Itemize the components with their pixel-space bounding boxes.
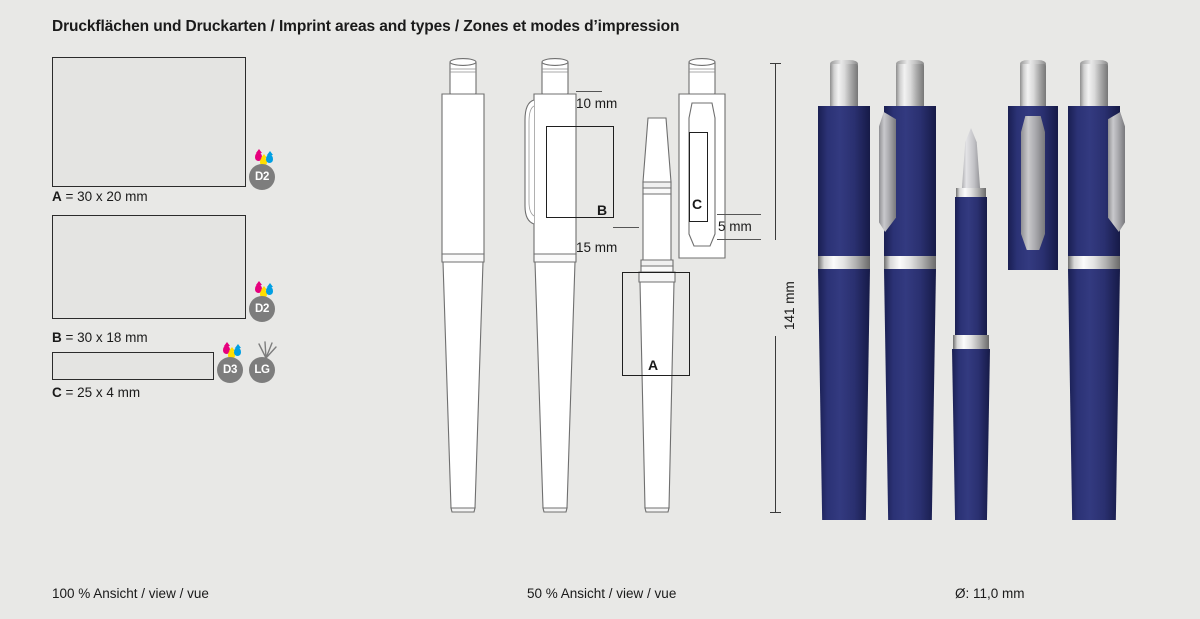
print-method-icon-lg-c[interactable]: LG [249, 343, 279, 383]
leader-line-5mm-bottom [717, 239, 761, 240]
dimension-10mm: 10 mm [576, 96, 617, 111]
imprint-area-label-b: B = 30 x 18 mm [52, 330, 148, 345]
pen-render-cone [948, 128, 1002, 520]
print-method-code-d2-b: D2 [249, 296, 275, 322]
caption-left: 100 % Ansicht / view / vue [52, 586, 209, 601]
dimension-cap-bottom [770, 512, 781, 513]
imprint-area-size-c: = 25 x 4 mm [62, 385, 140, 400]
cone-barrel [955, 197, 987, 335]
imprint-area-size-a: = 30 x 20 mm [62, 189, 148, 204]
imprint-area-box-c [52, 352, 214, 380]
print-method-code-d3-c: D3 [217, 357, 243, 383]
spec-sheet: Druckflächen und Druckarten / Imprint ar… [0, 0, 1200, 619]
cone-ring-upper [956, 188, 986, 197]
imprint-area-size-b: = 30 x 18 mm [62, 330, 148, 345]
leader-line-10mm [576, 91, 602, 92]
center-ring [884, 256, 936, 269]
page-title: Druckflächen und Druckarten / Imprint ar… [52, 18, 679, 36]
imprint-area-letter-b: B [52, 330, 62, 345]
print-method-icon-d2-a[interactable]: D2 [249, 150, 279, 190]
cone-lower-barrel [952, 349, 990, 520]
dimension-15mm: 15 mm [576, 240, 617, 255]
push-button [830, 64, 858, 106]
pen-lower-barrel [1068, 269, 1120, 520]
print-method-code-lg-c: LG [249, 357, 275, 383]
imprint-rect-letter-a: A [648, 357, 658, 373]
droplet-cyan-icon [266, 286, 273, 295]
pen-upper-barrel [818, 106, 870, 256]
dimension-5mm: 5 mm [718, 219, 752, 234]
print-method-icon-d3-c[interactable]: D3 [217, 343, 247, 383]
push-button [1020, 64, 1046, 106]
center-ring [1068, 256, 1120, 269]
print-method-icon-d2-b[interactable]: D2 [249, 282, 279, 322]
pen-clip-front [1021, 116, 1045, 250]
pen-lower-barrel [818, 269, 870, 520]
dimension-141mm: 141 mm [782, 281, 797, 330]
pen-tip-cone [958, 128, 984, 192]
pen-render-clip-right [1068, 60, 1138, 520]
pen-outline-clip-view [512, 56, 622, 516]
imprint-area-label-a: A = 30 x 20 mm [52, 189, 148, 204]
cone-ring-lower [953, 335, 989, 349]
imprint-area-box-b [52, 215, 246, 319]
pen-lower-barrel [884, 269, 936, 520]
imprint-area-letter-a: A [52, 189, 62, 204]
print-method-code-d2-a: D2 [249, 164, 275, 190]
imprint-area-letter-c: C [52, 385, 62, 400]
imprint-rect-letter-c: C [692, 196, 702, 212]
leader-line-15mm [613, 227, 639, 228]
center-ring [818, 256, 870, 269]
caption-right: Ø: 11,0 mm [955, 586, 1025, 601]
push-button [1080, 64, 1108, 106]
imprint-area-label-c: C = 25 x 4 mm [52, 385, 140, 400]
pen-render-plain [818, 60, 880, 520]
imprint-area-box-a [52, 57, 246, 187]
droplet-cyan-icon [266, 154, 273, 163]
caption-middle: 50 % Ansicht / view / vue [527, 586, 676, 601]
push-button [896, 64, 924, 106]
pen-render-with-clip [884, 60, 946, 520]
pen-render-clip-front [1008, 60, 1060, 275]
pen-clip [1108, 112, 1125, 232]
pen-clip [879, 112, 896, 232]
imprint-rect-letter-b: B [597, 202, 607, 218]
droplet-cyan-icon [234, 347, 241, 356]
leader-line-5mm-top [717, 214, 761, 215]
